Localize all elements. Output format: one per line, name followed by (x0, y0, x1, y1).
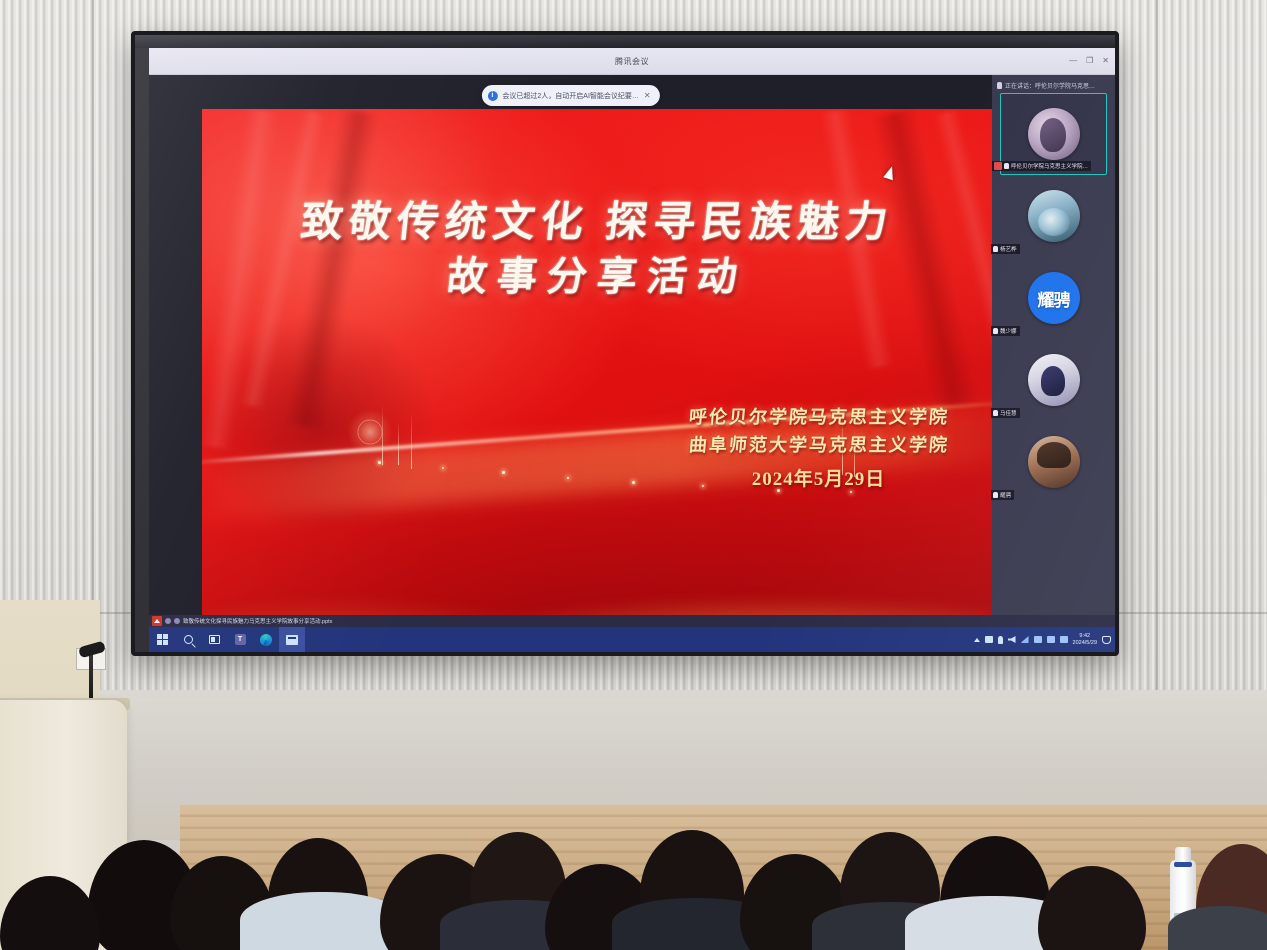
participant-name: 耀骋 (1000, 491, 1011, 499)
slide-title-line2: 故事分享活动 (202, 251, 992, 302)
shared-screen-stage: i 会议已超过2人，自动开启AI智能会议纪要… ✕ (149, 75, 992, 652)
shield-icon[interactable] (1047, 636, 1055, 643)
maximize-button[interactable]: ❐ (1086, 57, 1093, 65)
participant-tile[interactable]: 呼伦贝尔学院马克思主义学院… (1000, 93, 1107, 175)
participant-name: 杨艺桦 (1000, 245, 1017, 253)
system-tray: 9:42 2024/5/29 (974, 633, 1115, 647)
input-method-icon[interactable] (985, 636, 993, 643)
bottle-band (1174, 862, 1192, 867)
active-speaker-label: 正在讲话：呼伦贝尔学院马克思… (992, 77, 1115, 93)
participant-nameplate: 耀骋 (991, 490, 1014, 500)
display-bezel-top (135, 35, 1115, 48)
audience-shoulders (1168, 906, 1267, 950)
window-titlebar: 腾讯会议 — ❐ ✕ (149, 48, 1115, 75)
task-view-icon (209, 635, 220, 644)
avatar: 耀骋 (1028, 272, 1080, 324)
info-icon: i (487, 91, 497, 101)
slide-org-line1: 呼伦贝尔学院马克思主义学院 (687, 404, 949, 432)
avatar (1028, 436, 1080, 488)
microphone-icon (1004, 163, 1009, 169)
microphone-icon (993, 328, 998, 334)
sparkle (502, 471, 505, 474)
sparkle (850, 491, 852, 493)
tooltip-text: 正在共享屏幕｜停止共享 (249, 656, 304, 657)
participant-name: 呼伦贝尔学院马克思主义学院… (1011, 162, 1088, 170)
avatar-initials: 耀骋 (1038, 286, 1070, 311)
edge-button[interactable] (253, 627, 279, 652)
windows-logo-icon (157, 634, 168, 645)
ai-minutes-toast: i 会议已超过2人，自动开启AI智能会议纪要… ✕ (481, 85, 659, 106)
wall-seam-vertical (92, 0, 94, 660)
participant-nameplate: 杨艺桦 (991, 244, 1020, 254)
toast-message: 会议已超过2人，自动开启AI智能会议纪要… (502, 91, 639, 101)
avatar (1028, 190, 1080, 242)
taskbar-clock[interactable]: 9:42 2024/5/29 (1073, 633, 1097, 647)
participant-tile[interactable]: 马佳慧 (992, 339, 1115, 421)
participants-rail: 正在讲话：呼伦贝尔学院马克思… 呼伦贝尔学院马克思主义学院… (992, 75, 1115, 652)
presentation-slide: 致敬传统文化 探寻民族魅力 故事分享活动 呼伦贝尔学院马克思主义学院 曲阜师范大… (202, 109, 992, 627)
participant-tile[interactable]: 耀骋 (992, 421, 1115, 503)
screen-share-icon[interactable] (1034, 636, 1042, 643)
start-button[interactable] (149, 627, 175, 652)
avatar (1028, 108, 1080, 160)
slide-title-line1: 致敬传统文化 探寻民族魅力 (202, 197, 992, 251)
participant-tile[interactable]: 杨艺桦 (992, 175, 1115, 257)
microphone-icon (993, 492, 998, 498)
active-speaker-text: 正在讲话：呼伦贝尔学院马克思… (1005, 81, 1095, 90)
open-file-bar[interactable]: 致敬传统文化探寻民族魅力马克思主义学院故事分享活动.pptx (149, 615, 1115, 627)
audience-head (0, 876, 100, 950)
light-ray (411, 413, 412, 469)
slide-org-line2: 曲阜师范大学马克思主义学院 (687, 432, 949, 460)
temperature-icon[interactable] (998, 636, 1003, 644)
lecture-hall-scene: 腾讯会议 — ❐ ✕ i 会议已超过2人，自动开启AI智能会议纪要… ✕ (0, 0, 1267, 950)
desktop: 腾讯会议 — ❐ ✕ i 会议已超过2人，自动开启AI智能会议纪要… ✕ (149, 48, 1115, 652)
task-view-button[interactable] (201, 627, 227, 652)
close-button[interactable]: ✕ (1102, 57, 1109, 65)
bottle-cap (1175, 847, 1191, 862)
sparkle (632, 481, 635, 484)
firework-icon (347, 409, 393, 455)
participant-tile[interactable]: 耀骋 魏少娜 (992, 257, 1115, 339)
slide-title-block: 致敬传统文化 探寻民族魅力 故事分享活动 (202, 197, 992, 302)
search-icon (184, 635, 193, 644)
avatar (1028, 354, 1080, 406)
participant-name: 马佳慧 (1000, 409, 1017, 417)
window-title: 腾讯会议 (615, 56, 649, 67)
window-controls: — ❐ ✕ (1069, 57, 1109, 65)
microphone-icon (997, 82, 1002, 89)
powerpoint-button[interactable] (279, 627, 305, 652)
clock-time: 9:42 (1079, 633, 1090, 639)
chevron-up-icon[interactable] (974, 638, 980, 642)
wall-display: 腾讯会议 — ❐ ✕ i 会议已超过2人，自动开启AI智能会议纪要… ✕ (131, 31, 1119, 656)
clock-date: 2024/5/29 (1073, 640, 1097, 646)
shared-file-name: 致敬传统文化探寻民族魅力马克思主义学院故事分享活动.pptx (183, 617, 332, 625)
participant-nameplate: 呼伦贝尔学院马克思主义学院… (992, 161, 1091, 171)
teams-button[interactable]: T (227, 627, 253, 652)
microphone-icon (993, 410, 998, 416)
app-tray-icon[interactable] (1060, 636, 1068, 643)
teams-icon: T (235, 634, 246, 645)
notification-icon[interactable] (1102, 636, 1111, 644)
participant-nameplate: 魏少娜 (991, 326, 1020, 336)
meeting-body: i 会议已超过2人，自动开启AI智能会议纪要… ✕ (149, 75, 1115, 652)
tencent-meeting-window: 腾讯会议 — ❐ ✕ i 会议已超过2人，自动开启AI智能会议纪要… ✕ (149, 48, 1115, 652)
taskbar-tooltip: 正在共享屏幕｜停止共享 (244, 653, 309, 656)
light-ray (398, 421, 399, 465)
edge-icon (260, 634, 272, 646)
search-button[interactable] (175, 627, 201, 652)
toast-close-icon[interactable]: ✕ (644, 91, 651, 100)
light-ray (382, 405, 383, 465)
app-icon (174, 618, 180, 624)
pdf-icon (152, 616, 162, 626)
host-badge (994, 162, 1002, 170)
windows-taskbar: T (149, 627, 1115, 652)
participant-name: 魏少娜 (1000, 327, 1017, 335)
participant-nameplate: 马佳慧 (991, 408, 1020, 418)
minimize-button[interactable]: — (1069, 57, 1077, 65)
download-icon (165, 618, 171, 624)
audience-head (1038, 866, 1146, 950)
slide-date: 2024年5月29日 (689, 464, 949, 491)
taskbar-buttons: T (149, 627, 305, 652)
network-icon[interactable] (1021, 636, 1029, 643)
slide-subtitle-block: 呼伦贝尔学院马克思主义学院 曲阜师范大学马克思主义学院 2024年5月29日 (689, 404, 949, 491)
sparkle (442, 467, 444, 469)
audience (0, 780, 1267, 950)
volume-icon[interactable] (1008, 636, 1016, 643)
sparkle (378, 461, 381, 464)
presentation-icon (286, 635, 298, 645)
sparkle (567, 477, 569, 479)
wall-seam-vertical (1156, 0, 1158, 700)
microphone-icon (993, 246, 998, 252)
